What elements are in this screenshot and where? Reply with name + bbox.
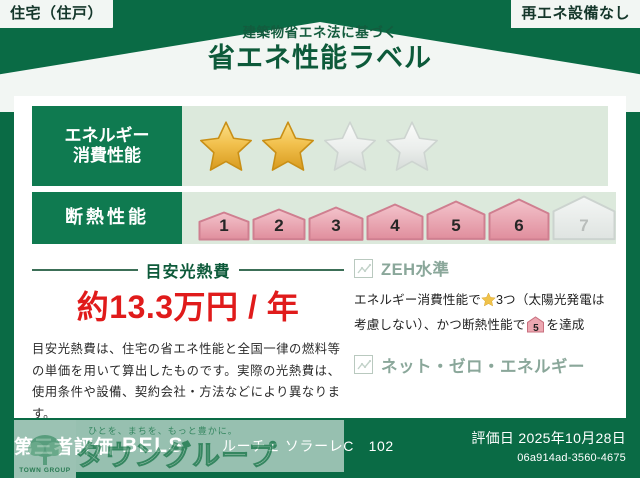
- zeh-description: エネルギー消費性能で 3つ（太陽光発電は考慮しない）、かつ断熱性能で 5を達成: [354, 289, 608, 341]
- inline-house-level: 5: [526, 320, 545, 338]
- utility-cost-section: 目安光熱費 約13.3万円 / 年 目安光熱費は、住宅の省エネ性能と全国一律の燃…: [32, 254, 344, 404]
- rule-left: [32, 269, 138, 271]
- evaluation-info: 評価日 2025年10月28日 06a914ad-3560-4675: [471, 428, 626, 464]
- star-empty-icon: [384, 119, 440, 173]
- insulation-level-number: 4: [366, 216, 424, 236]
- insulation-house-on: 6: [488, 198, 550, 241]
- insulation-performance-value: 1234567: [182, 192, 616, 244]
- energy-performance-key: エネルギー 消費性能: [32, 106, 182, 186]
- evaluation-id: 06a914ad-3560-4675: [471, 452, 626, 464]
- label-body-panel: エネルギー 消費性能 断熱性能 1234567 目安光熱費 約13.3万: [14, 96, 626, 418]
- page-title: 省エネ性能ラベル: [0, 43, 640, 74]
- third-party-evaluation: 第三者評価 BELS: [14, 432, 184, 459]
- insulation-level-number: 5: [426, 216, 486, 236]
- insulation-level-number: 7: [552, 216, 616, 236]
- tag-dwelling-type: 住宅（住戸）: [0, 0, 113, 28]
- insulation-level-number: 6: [488, 216, 550, 236]
- zeh-desc-star-count: 3つ: [496, 293, 516, 307]
- star-empty-icon: [322, 119, 378, 173]
- building-name: ルーチェ ソラーレC 102: [222, 436, 394, 456]
- insulation-house-on: 3: [308, 206, 364, 241]
- insulation-house-on: 5: [426, 200, 486, 240]
- nze-label: ネット・ゼロ・エネルギー: [381, 353, 585, 377]
- insulation-level-number: 2: [252, 216, 306, 236]
- zeh-checkbox-icon: [354, 259, 373, 278]
- nze-checkbox-icon: [354, 355, 373, 374]
- roof-title-block: 建築物省エネ法に基づく 省エネ性能ラベル: [0, 26, 640, 74]
- label-footer: 第三者評価 BELS ルーチェ ソラーレC 102 評価日 2025年10月28…: [0, 418, 640, 478]
- third-party-label: 第三者評価: [14, 432, 114, 459]
- zeh-badge-line: ZEH水準: [354, 256, 608, 280]
- bels-label: BELS: [122, 434, 184, 458]
- zeh-desc-part1: エネルギー消費性能で: [354, 293, 481, 307]
- star-filled-icon: [260, 119, 316, 173]
- zeh-section: ZEH水準 エネルギー消費性能で 3つ（太陽光発電は考慮しない）、かつ断熱性能で…: [344, 254, 608, 404]
- energy-label-root: 住宅（住戸） 再エネ設備なし 建築物省エネ法に基づく 省エネ性能ラベル エネルギ…: [0, 0, 640, 478]
- insulation-level-scale: 1234567: [198, 195, 616, 241]
- energy-key-line2: 消費性能: [73, 146, 141, 166]
- lower-content: 目安光熱費 約13.3万円 / 年 目安光熱費は、住宅の省エネ性能と全国一律の燃…: [32, 254, 608, 404]
- insulation-house-on: 4: [366, 203, 424, 241]
- energy-key-line1: エネルギー: [65, 126, 150, 146]
- tag-renewable-equipment: 再エネ設備なし: [511, 0, 640, 28]
- rule-right: [239, 269, 345, 271]
- utility-cost-heading: 目安光熱費: [32, 258, 344, 282]
- utility-cost-note: 目安光熱費は、住宅の省エネ性能と全国一律の燃料等の単価を用いて算出したものです。…: [32, 339, 344, 425]
- inline-star-icon: [481, 292, 496, 314]
- insulation-performance-key: 断熱性能: [32, 192, 182, 244]
- star-rating: [198, 119, 440, 173]
- zeh-badge-label: ZEH水準: [381, 256, 450, 280]
- insulation-house-on: 1: [198, 211, 250, 241]
- utility-cost-label: 目安光熱費: [146, 258, 231, 282]
- evaluation-date: 評価日 2025年10月28日: [471, 428, 626, 448]
- zeh-desc-part3: を達成: [546, 318, 584, 332]
- inline-house-icon: 5: [526, 316, 545, 340]
- insulation-house-off: 7: [552, 195, 616, 241]
- energy-performance-value: [182, 106, 608, 186]
- row-insulation-performance: 断熱性能 1234567: [32, 192, 608, 244]
- insulation-level-number: 1: [198, 216, 250, 236]
- utility-cost-value: 約13.3万円 / 年: [32, 290, 344, 325]
- star-filled-icon: [198, 119, 254, 173]
- insulation-level-number: 3: [308, 216, 364, 236]
- row-energy-performance: エネルギー 消費性能: [32, 106, 608, 186]
- label-subtitle: 建築物省エネ法に基づく: [0, 26, 640, 41]
- insulation-house-on: 2: [252, 208, 306, 241]
- nze-badge-line: ネット・ゼロ・エネルギー: [354, 353, 608, 377]
